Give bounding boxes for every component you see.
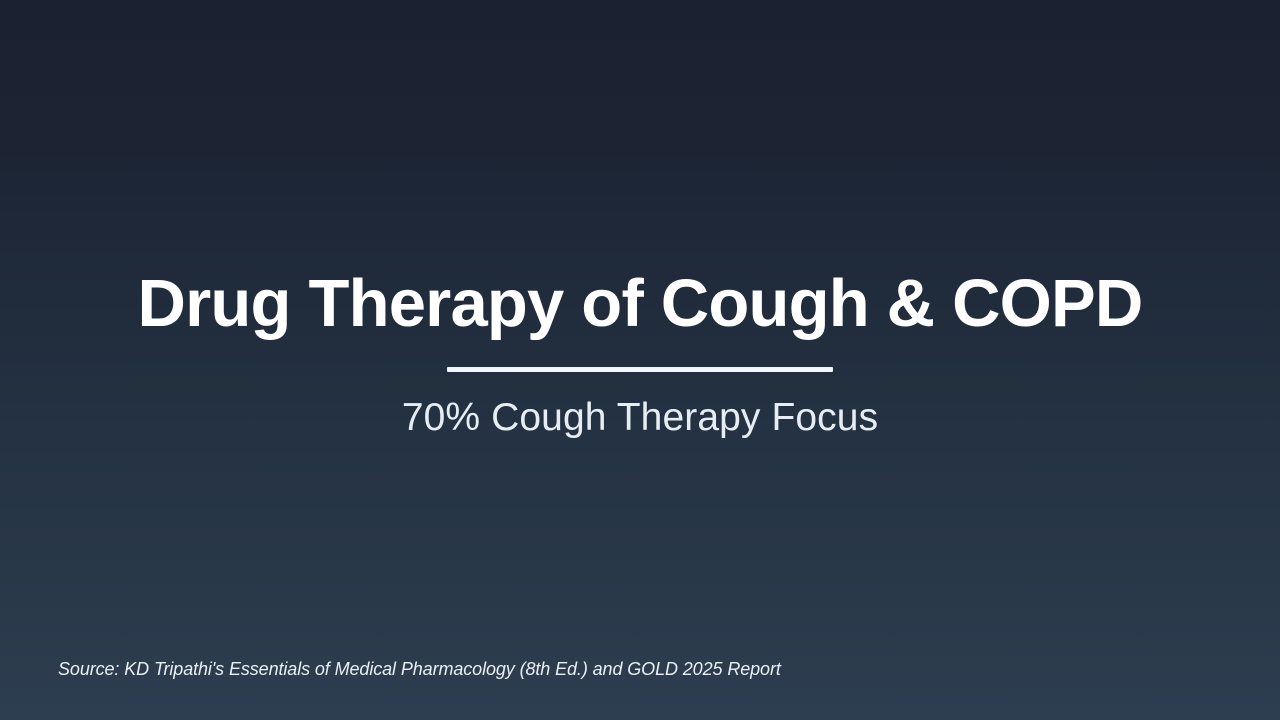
slide-subtitle: 70% Cough Therapy Focus: [402, 394, 878, 442]
page-title: Drug Therapy of Cough & COPD: [138, 262, 1143, 346]
title-slide: Drug Therapy of Cough & COPD 70% Cough T…: [0, 0, 1280, 720]
source-citation: Source: KD Tripathi's Essentials of Medi…: [58, 657, 781, 681]
title-divider: [447, 367, 833, 372]
title-block: Drug Therapy of Cough & COPD 70% Cough T…: [0, 262, 1280, 442]
